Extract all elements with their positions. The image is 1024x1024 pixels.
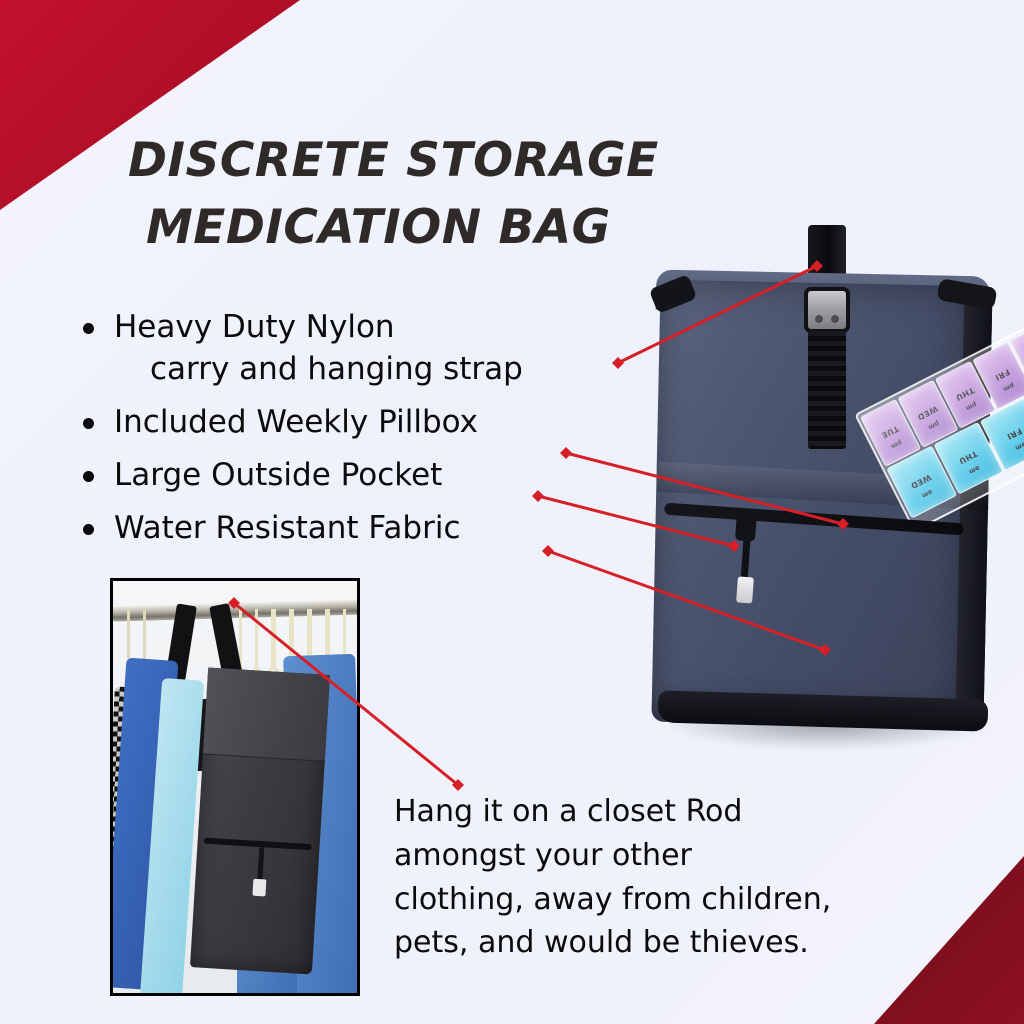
buckle-icon	[804, 287, 850, 333]
inset-bag-zipper	[204, 838, 312, 851]
list-item: Heavy Duty Nylon carry and hanging strap	[72, 312, 592, 385]
closing-paragraph: Hang it on a closet Rod amongst your oth…	[394, 790, 954, 965]
inset-bag-flap	[203, 668, 330, 762]
inset-bag-zipper-pull	[257, 847, 264, 883]
list-item: Large Outside Pocket	[72, 460, 592, 491]
product-photo-bag: TUE pm WED pm THU pm FRI pm SAT pm	[608, 225, 1024, 785]
blurb-line-1: Hang it on a closet Rod	[394, 790, 954, 834]
feature-label: Heavy Duty Nylon	[114, 309, 395, 345]
page-title: DISCRETE STORAGE MEDICATION BAG	[128, 128, 768, 261]
inset-bag-body	[190, 668, 330, 975]
zipper-pull-tab	[736, 576, 754, 603]
list-item: Included Weekly Pillbox	[72, 407, 592, 438]
feature-continuation: carry and hanging strap	[150, 354, 592, 385]
inset-photo-closet	[110, 578, 360, 996]
hanger-icon	[255, 609, 274, 674]
blurb-line-3: clothing, away from children,	[394, 878, 954, 922]
inset-bag-zipper-tab	[252, 879, 266, 897]
blurb-line-2: amongst your other	[394, 834, 954, 878]
blurb-line-4: pets, and would be thieves.	[394, 921, 954, 965]
product-infographic: TUE pm WED pm THU pm FRI pm SAT pm	[0, 0, 1024, 1024]
title-line-2: MEDICATION BAG	[146, 195, 768, 262]
feature-label: Included Weekly Pillbox	[114, 404, 478, 440]
feature-label: Water Resistant Fabric	[114, 510, 461, 546]
list-item: Water Resistant Fabric	[72, 513, 592, 544]
hanging-strap-lower	[808, 331, 846, 449]
feature-label: Large Outside Pocket	[114, 457, 442, 493]
feature-list: Heavy Duty Nylon carry and hanging strap…	[72, 312, 592, 566]
title-line-1: DISCRETE STORAGE	[128, 133, 659, 188]
